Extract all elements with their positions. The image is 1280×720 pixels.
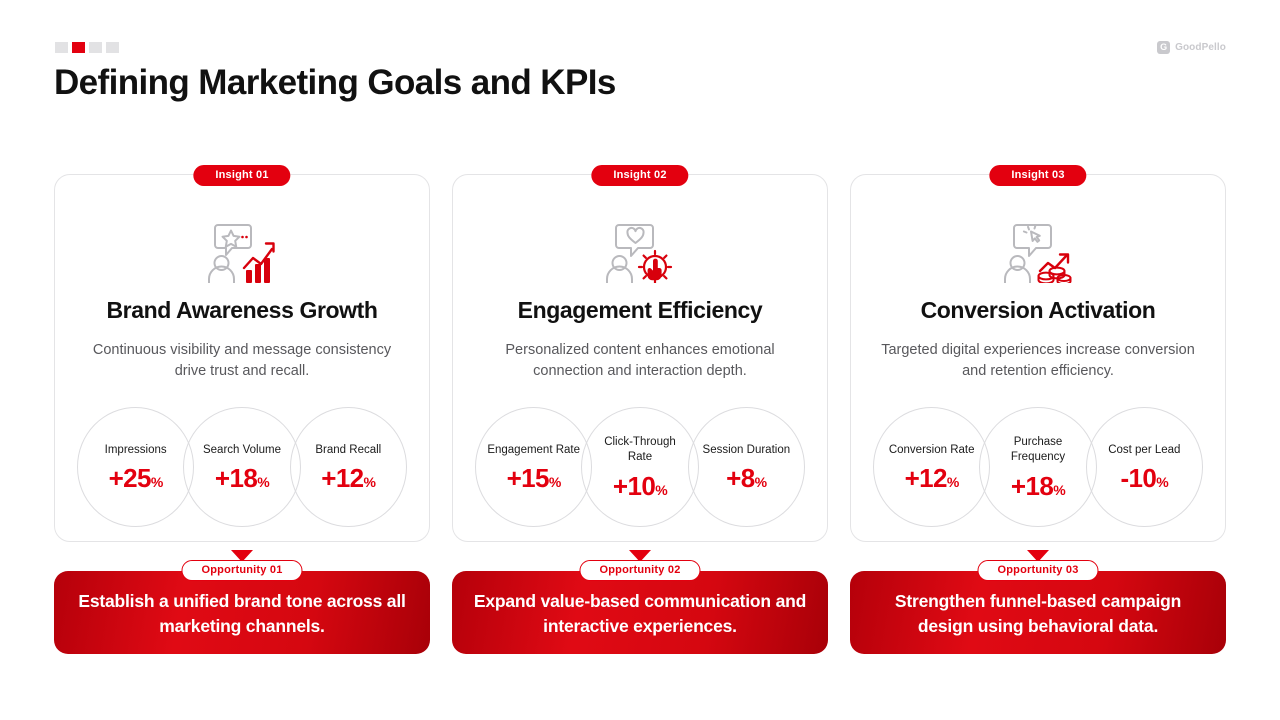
- metric-circle: Engagement Rate +15%: [475, 407, 592, 527]
- metric-number: +18: [215, 463, 257, 493]
- metric-label: Cost per Lead: [1108, 443, 1180, 458]
- metric-label: Click-Through Rate: [592, 435, 688, 465]
- metric-value: +15%: [507, 465, 561, 491]
- metric-circle: Brand Recall +12%: [290, 407, 407, 527]
- metric-number: +8: [726, 463, 754, 493]
- card-title-2: Engagement Efficiency: [475, 297, 805, 324]
- insight-column-2: Insight 02: [452, 174, 828, 654]
- metric-value: -10%: [1121, 465, 1169, 491]
- metric-label: Brand Recall: [315, 443, 381, 458]
- metric-number: +18: [1011, 471, 1053, 501]
- card-description-2: Personalized content enhances emotional …: [475, 340, 805, 383]
- metric-number: +12: [321, 463, 363, 493]
- insight-card-2: Insight 02: [452, 174, 828, 542]
- person-heart-bubble-gear-hand-icon: [475, 221, 805, 283]
- goodpello-g-icon: G: [1157, 41, 1170, 54]
- metric-value: +8%: [726, 465, 766, 491]
- opportunity-wrap-3: Opportunity 03 Strengthen funnel-based c…: [850, 571, 1226, 654]
- metric-unit: %: [257, 474, 269, 490]
- metric-label: Purchase Frequency: [990, 435, 1086, 465]
- metric-unit: %: [1156, 474, 1168, 490]
- opportunity-badge-3: Opportunity 03: [977, 560, 1098, 581]
- card-title-3: Conversion Activation: [873, 297, 1203, 324]
- metric-unit: %: [1053, 482, 1065, 498]
- metric-number: +25: [109, 463, 151, 493]
- metrics-group-3: Conversion Rate +12% Purchase Frequency …: [873, 407, 1203, 527]
- metric-unit: %: [947, 474, 959, 490]
- person-star-bubble-bargrowth-icon: [77, 221, 407, 283]
- card-description-3: Targeted digital experiences increase co…: [873, 340, 1203, 383]
- deco-square-4: [106, 42, 119, 53]
- opportunity-banner-2: Expand value-based communication and int…: [452, 571, 828, 654]
- metric-value: +12%: [905, 465, 959, 491]
- metric-label: Session Duration: [703, 443, 791, 458]
- metric-number: -10: [1121, 463, 1157, 493]
- opportunity-badge-1: Opportunity 01: [181, 560, 302, 581]
- metric-unit: %: [755, 474, 767, 490]
- opportunity-banner-1: Establish a unified brand tone across al…: [54, 571, 430, 654]
- metric-circle: Click-Through Rate +10%: [581, 407, 698, 527]
- opportunity-banner-3: Strengthen funnel-based campaign design …: [850, 571, 1226, 654]
- metric-value: +10%: [613, 473, 667, 499]
- metric-circle: Cost per Lead -10%: [1086, 407, 1203, 527]
- metric-circle: Purchase Frequency +18%: [979, 407, 1096, 527]
- deco-square-1: [55, 42, 68, 53]
- insight-column-3: Insight 03: [850, 174, 1226, 654]
- deco-square-3: [89, 42, 102, 53]
- insight-card-3: Insight 03: [850, 174, 1226, 542]
- metric-circle: Search Volume +18%: [183, 407, 300, 527]
- metric-number: +15: [507, 463, 549, 493]
- opportunity-badge-2: Opportunity 02: [579, 560, 700, 581]
- brand-logo: G GoodPello: [1157, 41, 1226, 54]
- metric-value: +18%: [215, 465, 269, 491]
- insight-badge-1: Insight 01: [193, 165, 290, 186]
- metrics-group-2: Engagement Rate +15% Click-Through Rate …: [475, 407, 805, 527]
- metric-label: Conversion Rate: [889, 443, 975, 458]
- deco-square-2-accent: [72, 42, 85, 53]
- card-title-1: Brand Awareness Growth: [77, 297, 407, 324]
- decorative-squares: [55, 42, 119, 53]
- metric-number: +10: [613, 471, 655, 501]
- card-description-1: Continuous visibility and message consis…: [77, 340, 407, 383]
- metric-unit: %: [549, 474, 561, 490]
- metric-label: Engagement Rate: [487, 443, 580, 458]
- insight-badge-3: Insight 03: [989, 165, 1086, 186]
- metric-unit: %: [655, 482, 667, 498]
- metric-value: +25%: [109, 465, 163, 491]
- brand-name: GoodPello: [1175, 42, 1226, 53]
- opportunity-wrap-1: Opportunity 01 Establish a unified brand…: [54, 571, 430, 654]
- metric-value: +18%: [1011, 473, 1065, 499]
- metrics-group-1: Impressions +25% Search Volume +18% Bran…: [77, 407, 407, 527]
- opportunity-wrap-2: Opportunity 02 Expand value-based commun…: [452, 571, 828, 654]
- person-cursor-bubble-coins-growth-icon: [873, 221, 1203, 283]
- metric-circle: Conversion Rate +12%: [873, 407, 990, 527]
- metric-value: +12%: [321, 465, 375, 491]
- insight-card-1: Insight 01: [54, 174, 430, 542]
- metric-label: Impressions: [105, 443, 167, 458]
- metric-circle: Impressions +25%: [77, 407, 194, 527]
- insight-badge-2: Insight 02: [591, 165, 688, 186]
- metric-number: +12: [905, 463, 947, 493]
- metric-circle: Session Duration +8%: [688, 407, 805, 527]
- insight-column-1: Insight 01: [54, 174, 430, 654]
- metric-unit: %: [151, 474, 163, 490]
- metric-label: Search Volume: [203, 443, 281, 458]
- insight-columns: Insight 01: [54, 174, 1226, 654]
- page-title: Defining Marketing Goals and KPIs: [54, 62, 616, 104]
- metric-unit: %: [364, 474, 376, 490]
